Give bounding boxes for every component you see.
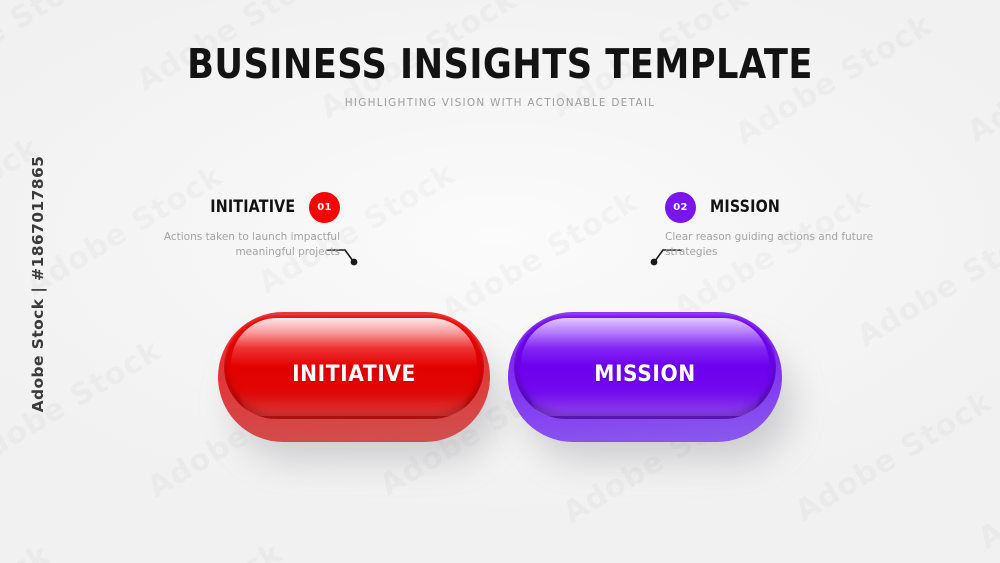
callout-mission: 02 MISSION Clear reason guiding actions …: [665, 190, 905, 260]
callout-mission-title: MISSION: [710, 197, 780, 217]
callout-initiative-title: INITIATIVE: [210, 197, 295, 217]
page-title: BUSINESS INSIGHTS TEMPLATE: [70, 44, 930, 85]
watermark-text: Adobe Stock: [0, 537, 57, 563]
callout-initiative-head: INITIATIVE 01: [100, 190, 340, 224]
watermark-text: Adobe Stock: [972, 412, 1000, 557]
callout-initiative: INITIATIVE 01 Actions taken to launch im…: [100, 190, 340, 260]
pill-initiative-label: INITIATIVE: [229, 362, 479, 387]
step-badge-01[interactable]: 01: [309, 192, 340, 223]
watermark-text: Adobe Stock: [0, 333, 167, 478]
pill-button-mission[interactable]: MISSION: [508, 312, 782, 442]
pill-mission-label: MISSION: [519, 362, 771, 387]
callout-initiative-description: Actions taken to launch impactful meanin…: [100, 230, 340, 260]
watermark-row: Adobe StockAdobe StockAdobe StockAdobe S…: [0, 47, 1000, 563]
infographic-canvas: Adobe StockAdobe StockAdobe StockAdobe S…: [0, 0, 1000, 563]
step-badge-01-number: 01: [317, 202, 332, 213]
callout-mission-description: Clear reason guiding actions and future …: [665, 230, 905, 260]
step-badge-02-number: 02: [673, 202, 688, 213]
watermark-text: Adobe Stock: [435, 184, 644, 329]
header: BUSINESS INSIGHTS TEMPLATE HIGHLIGHTING …: [0, 44, 1000, 109]
pill-button-initiative[interactable]: INITIATIVE: [218, 312, 490, 442]
callout-mission-head: 02 MISSION: [665, 190, 905, 224]
stock-credit-label: Adobe Stock | #1867017865: [29, 154, 47, 414]
watermark-text: Adobe Stock: [789, 384, 998, 529]
step-badge-02[interactable]: 02: [665, 192, 696, 223]
page-subtitle: HIGHLIGHTING VISION WITH ACTIONABLE DETA…: [0, 97, 1000, 109]
watermark-text: Adobe Stock: [80, 535, 289, 563]
